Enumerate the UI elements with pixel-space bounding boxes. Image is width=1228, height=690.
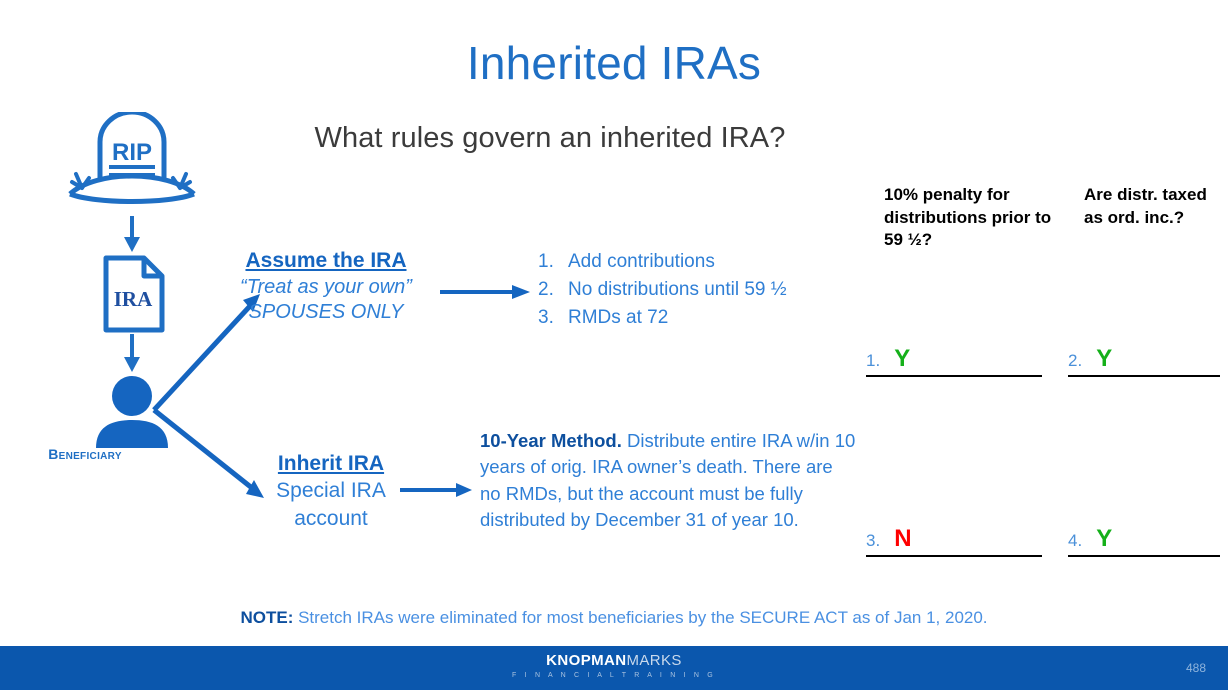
footnote-text: Stretch IRAs were eliminated for most be…: [293, 608, 987, 627]
list-item-number: 1.: [538, 248, 568, 276]
page-number: 488: [1186, 661, 1206, 675]
answer-index-2: 2.: [1068, 351, 1082, 370]
slide-canvas: Inherited IRAs What rules govern an inhe…: [0, 0, 1228, 690]
answer-value-1: Y: [894, 345, 910, 372]
list-item: 2. No distributions until 59 ½: [538, 276, 868, 304]
column-header-penalty: 10% penalty for distributions prior to 5…: [884, 184, 1054, 252]
list-item-text: No distributions until 59 ½: [568, 276, 787, 304]
answer-index-1: 1.: [866, 351, 880, 370]
page-title: Inherited IRAs: [0, 36, 1228, 90]
answer-blank-4[interactable]: 4.Y: [1068, 525, 1220, 557]
list-item-number: 3.: [538, 304, 568, 332]
answer-index-3: 3.: [866, 531, 880, 550]
branch-assume-ira-sub2: SPOUSES ONLY: [218, 300, 434, 326]
ten-year-method-paragraph: 10-Year Method. Distribute entire IRA w/…: [480, 428, 858, 533]
branch-assume-ira: Assume the IRA “Treat as your own” SPOUS…: [218, 248, 434, 326]
arrow-right-icon-1: [440, 280, 532, 304]
brand-tagline: F I N A N C I A L T R A I N I N G: [0, 672, 1228, 679]
column-header-taxed: Are distr. taxed as ord. inc.?: [1084, 184, 1224, 229]
brand-logo: KNOPMANMARKS F I N A N C I A L T R A I N…: [0, 653, 1228, 679]
branch-inherit-ira-heading: Inherit IRA: [226, 450, 436, 477]
list-item-text: RMDs at 72: [568, 304, 668, 332]
answer-blank-3[interactable]: 3.N: [866, 525, 1042, 557]
arrow-right-icon-2: [400, 478, 474, 502]
branch-assume-ira-list: 1. Add contributions 2. No distributions…: [538, 248, 868, 332]
branch-assume-ira-sub1: “Treat as your own”: [218, 275, 434, 301]
page-subtitle: What rules govern an inherited IRA?: [170, 122, 930, 155]
branch-assume-ira-heading: Assume the IRA: [218, 248, 434, 275]
answer-value-3: N: [894, 525, 911, 552]
brand-name-bold: KNOPMAN: [546, 652, 626, 669]
answer-blank-2[interactable]: 2.Y: [1068, 345, 1220, 377]
tombstone-label: RIP: [112, 139, 152, 166]
list-item-text: Add contributions: [568, 248, 715, 276]
brand-name-light: MARKS: [626, 652, 681, 669]
tombstone-icon: RIP: [62, 112, 202, 216]
answer-value-2: Y: [1096, 345, 1112, 372]
list-item: 1. Add contributions: [538, 248, 868, 276]
arrow-down-icon-1: [62, 216, 202, 254]
list-item-number: 2.: [538, 276, 568, 304]
footnote-label: NOTE:: [240, 608, 293, 627]
ten-year-method-label: 10-Year Method.: [480, 430, 622, 451]
footer-bar: KNOPMANMARKS F I N A N C I A L T R A I N…: [0, 646, 1228, 690]
answer-blank-1[interactable]: 1.Y: [866, 345, 1042, 377]
answer-index-4: 4.: [1068, 531, 1082, 550]
list-item: 3. RMDs at 72: [538, 304, 868, 332]
branch-inherit-ira-sub2: account: [226, 505, 436, 532]
answer-value-4: Y: [1096, 525, 1112, 552]
footnote: NOTE: Stretch IRAs were eliminated for m…: [0, 608, 1228, 628]
